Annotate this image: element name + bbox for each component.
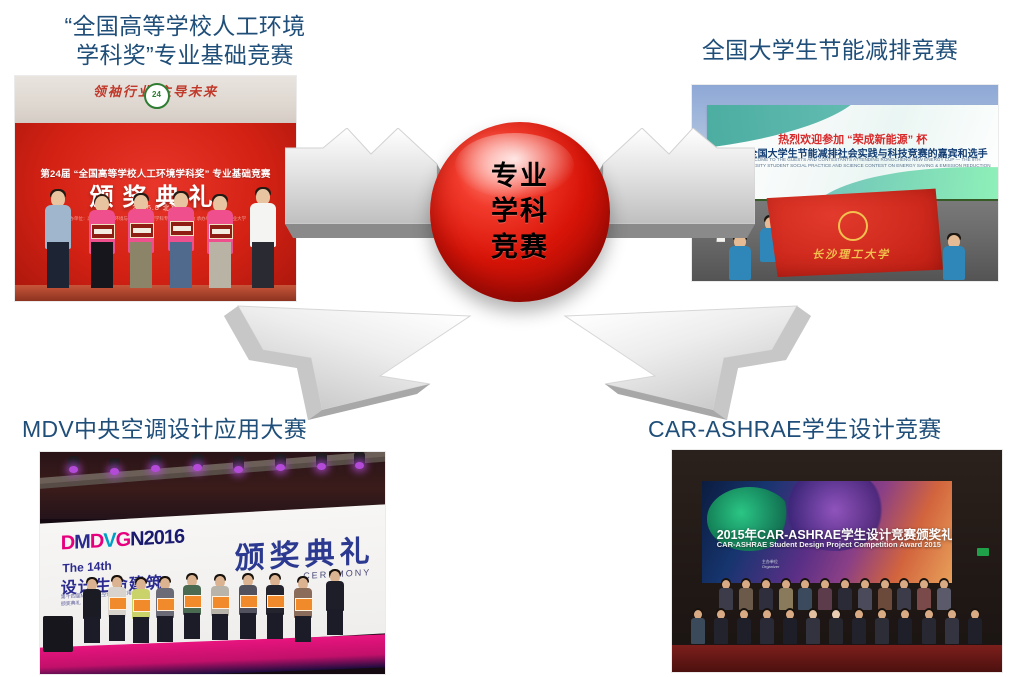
- arrow-center-to-bottom-left-icon: [205, 288, 495, 433]
- photo4-led-screen: 2015年CAR-ASHRAE学生设计竞赛颁奖礼 CAR-ASHRAE Stud…: [702, 481, 953, 583]
- center-hub-label: 专业 学科 竞赛: [430, 122, 610, 302]
- center-hub-sphere: 专业 学科 竞赛: [430, 122, 610, 302]
- photo4-organizer: 主办单位 Organizer: [762, 559, 780, 569]
- quadrant-title-top-right: 全国大学生节能减排竞赛: [660, 36, 1000, 65]
- photo2-university-flag: 长沙理工大学: [759, 183, 943, 277]
- photo2-flag-text: 长沙理工大学: [759, 246, 943, 262]
- photo4-screen-line2: CAR-ASHRAE Student Design Project Compet…: [717, 540, 941, 549]
- photo1-people: [15, 157, 296, 288]
- photo3-logo: DMDVGN2016: [61, 526, 184, 556]
- center-line-1: 专业: [491, 159, 549, 195]
- photo-top-left-award-ceremony: 领袖行业 主导未来 24 第24届 “全国高等学校人工环境学科奖” 专业基础竞赛…: [15, 76, 296, 301]
- photo4-exit-sign: [977, 548, 989, 556]
- arrow-center-to-bottom-right-icon: [540, 288, 830, 433]
- quadrant-title-top-left: “全国高等学校人工环境 学科奖”专业基础竞赛: [20, 12, 350, 70]
- photo3-speaker: [43, 616, 73, 652]
- photo1-logo: 24: [144, 83, 170, 109]
- center-line-2: 学科: [491, 194, 549, 230]
- center-line-3: 竞赛: [491, 230, 549, 266]
- diagram-canvas: 专业 学科 竞赛 “全国高等学校人工环境 学科奖”专业基础竞赛 全国大学生节能减…: [0, 0, 1013, 677]
- photo-bottom-right-car-ashrae: 2015年CAR-ASHRAE学生设计竞赛颁奖礼 CAR-ASHRAE Stud…: [672, 450, 1002, 672]
- photo4-carpet: [672, 645, 1002, 672]
- photo4-front-row: [672, 608, 1002, 648]
- photo-bottom-left-mdv-ceremony: DMDVGN2016 The 14th 设计生命建筑 第十四届MDV中央空调设计…: [40, 452, 385, 674]
